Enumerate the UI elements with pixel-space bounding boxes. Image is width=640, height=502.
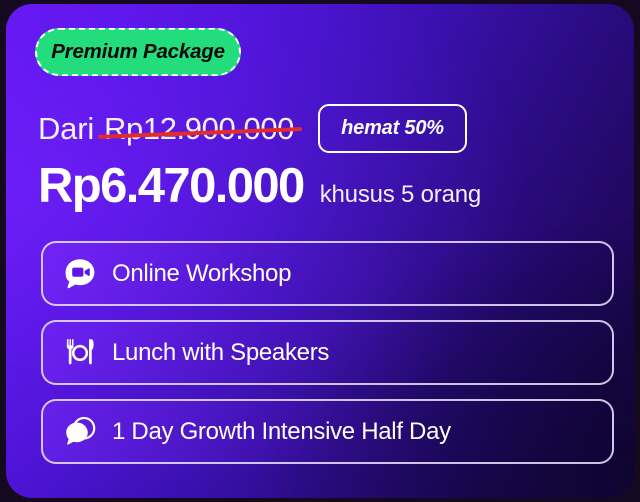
- video-chat-icon: [62, 256, 98, 292]
- feature-label: 1 Day Growth Intensive Half Day: [112, 418, 451, 446]
- discount-badge-label: hemat 50%: [341, 117, 444, 140]
- feature-item-lunch-with-speakers[interactable]: Lunch with Speakers: [41, 320, 614, 385]
- premium-package-card: Premium Package Dari Rp12.900.000 hemat …: [6, 4, 634, 498]
- cutlery-plate-icon: [62, 335, 98, 371]
- current-price-value: Rp6.470.000: [38, 162, 304, 211]
- feature-label: Lunch with Speakers: [112, 339, 329, 367]
- double-chat-bubble-icon: [62, 414, 98, 450]
- premium-package-badge-label: Premium Package: [51, 40, 225, 64]
- price-prefix-label: Dari: [38, 111, 94, 147]
- promo-card-screen: Premium Package Dari Rp12.900.000 hemat …: [0, 0, 640, 502]
- feature-item-online-workshop[interactable]: Online Workshop: [41, 241, 614, 306]
- price-note-label: khusus 5 orang: [320, 181, 481, 209]
- feature-list: Online Workshop Lu: [41, 241, 614, 464]
- discount-badge: hemat 50%: [318, 104, 467, 153]
- original-price-row: Dari Rp12.900.000: [38, 102, 294, 156]
- original-price-wrapper: Rp12.900.000: [104, 111, 294, 147]
- current-price-row: Rp6.470.000 khusus 5 orang: [38, 162, 481, 224]
- premium-package-badge: Premium Package: [35, 28, 241, 76]
- feature-item-growth-intensive[interactable]: 1 Day Growth Intensive Half Day: [41, 399, 614, 464]
- feature-label: Online Workshop: [112, 260, 291, 288]
